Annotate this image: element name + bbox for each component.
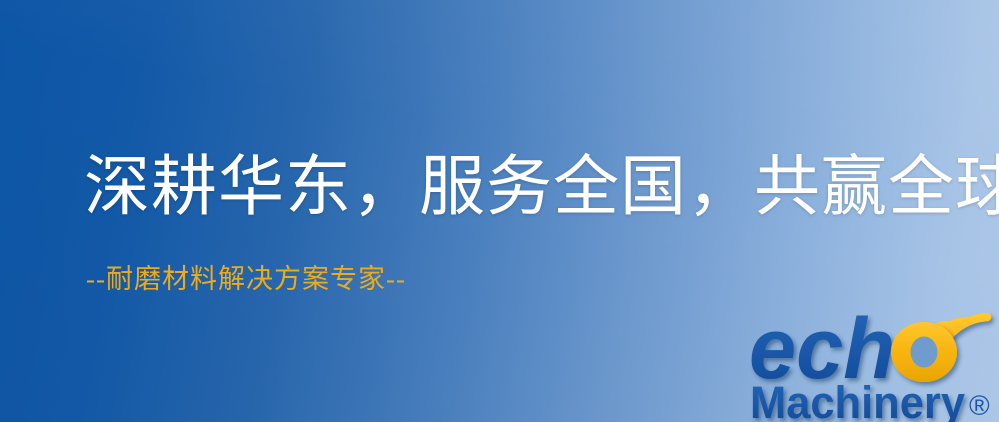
logo-trademark-symbol: ® xyxy=(969,390,990,421)
hero-banner: 深耕华东，服务全国，共赢全球 --耐磨材料解决方案专家-- xyxy=(0,0,999,422)
banner-subtitle: --耐磨材料解决方案专家-- xyxy=(86,266,406,293)
echo-machinery-logo[interactable]: ech Machinery ® xyxy=(748,296,999,422)
logo-wordmark-machinery: Machinery xyxy=(750,377,965,422)
logo-wordmark-o xyxy=(891,322,957,382)
banner-headline: 深耕华东，服务全国，共赢全球 xyxy=(84,155,999,221)
